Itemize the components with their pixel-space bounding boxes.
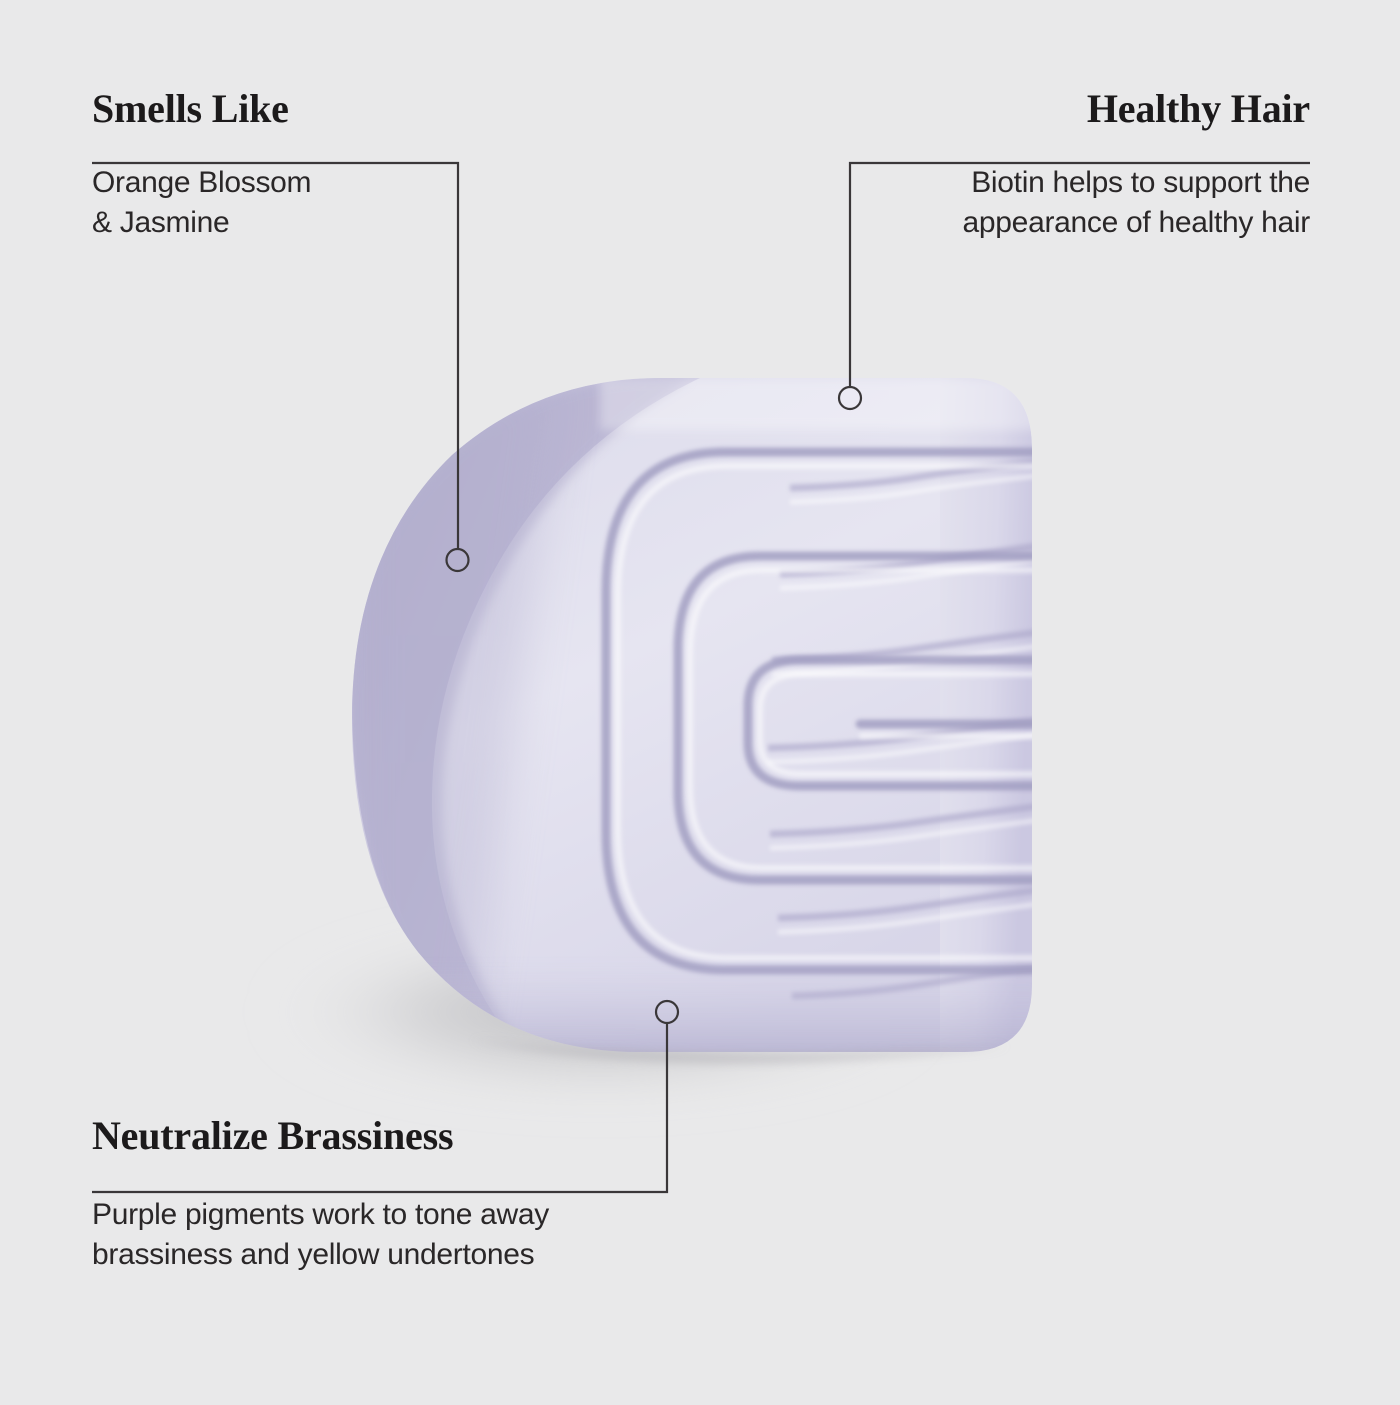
callout-body-line: appearance of healthy hair [963,206,1310,239]
callout-body-line: brassiness and yellow undertones [92,1238,534,1271]
callout-heading-healthy-hair: Healthy Hair [963,88,1310,130]
callout-body-line: Purple pigments work to tone away [92,1198,549,1231]
callout-heading-smells-like: Smells Like [92,88,311,130]
callout-smells-like: Smells Like Orange Blossom & Jasmine [92,88,311,243]
callout-body-line: Biotin helps to support the [971,166,1310,199]
callout-body-healthy-hair: Biotin helps to support the appearance o… [963,163,1310,243]
callout-heading-neutralize-brassiness: Neutralize Brassiness [92,1115,549,1157]
callout-body-line: & Jasmine [92,206,229,239]
callout-healthy-hair: Healthy Hair Biotin helps to support the… [963,88,1310,243]
infographic-canvas: Smells Like Orange Blossom & Jasmine Hea… [0,0,1400,1400]
callout-body-smells-like: Orange Blossom & Jasmine [92,163,311,243]
callout-body-neutralize-brassiness: Purple pigments work to tone away brassi… [92,1195,549,1275]
product-body [352,378,1040,1063]
callout-body-line: Orange Blossom [92,166,311,199]
callout-neutralize-brassiness: Neutralize Brassiness Purple pigments wo… [92,1115,549,1275]
